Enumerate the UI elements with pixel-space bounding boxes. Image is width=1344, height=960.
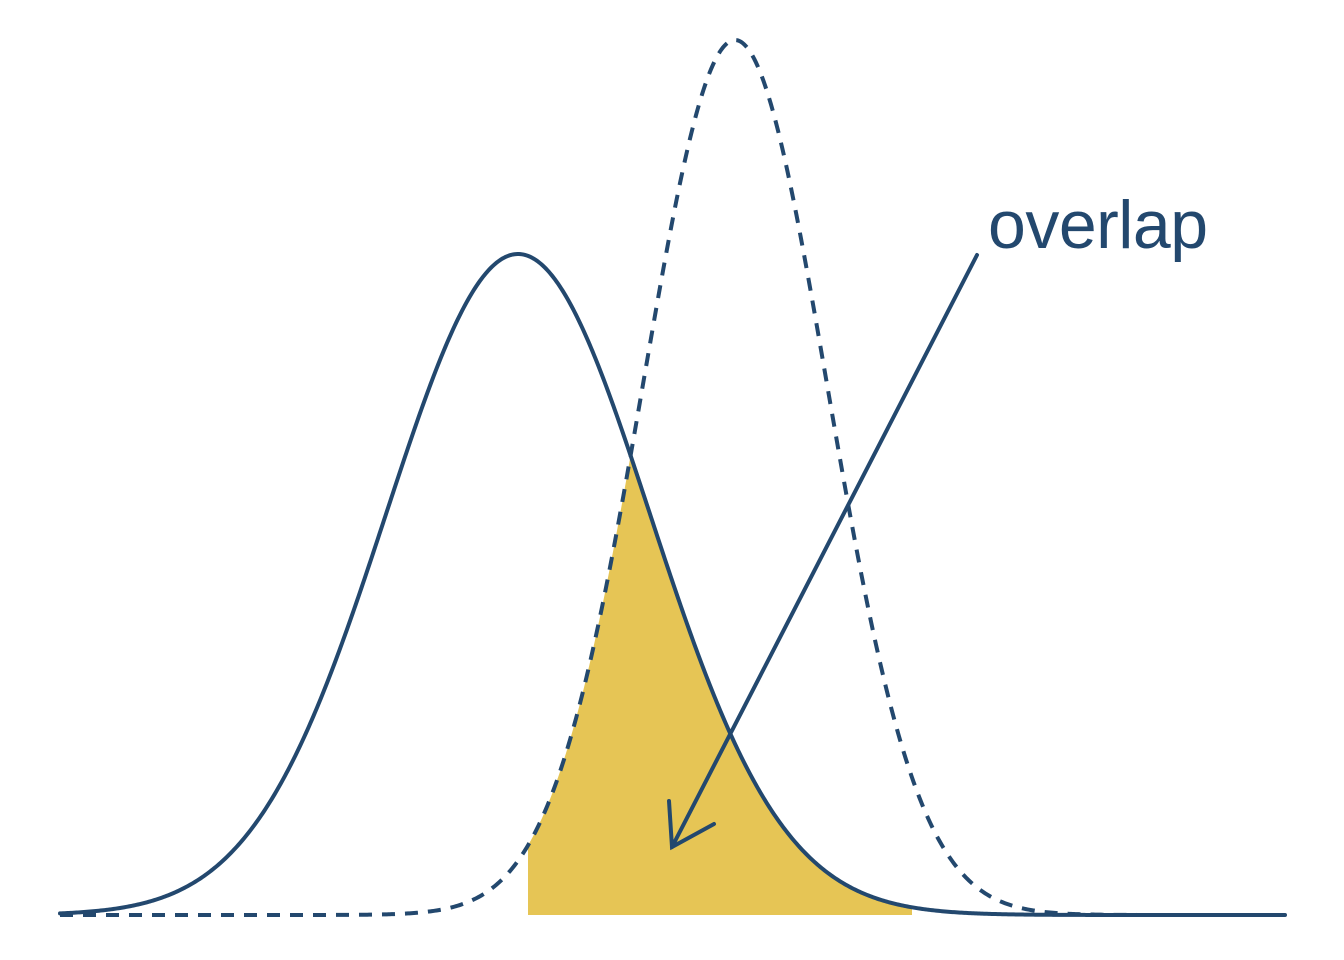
overlap-label: overlap <box>988 187 1208 263</box>
figure-canvas: overlap <box>0 0 1344 960</box>
overlap-shaded-area <box>528 457 912 915</box>
distribution-overlap-chart: overlap <box>0 0 1344 960</box>
overlap-callout-arrow-shaft <box>672 255 977 847</box>
